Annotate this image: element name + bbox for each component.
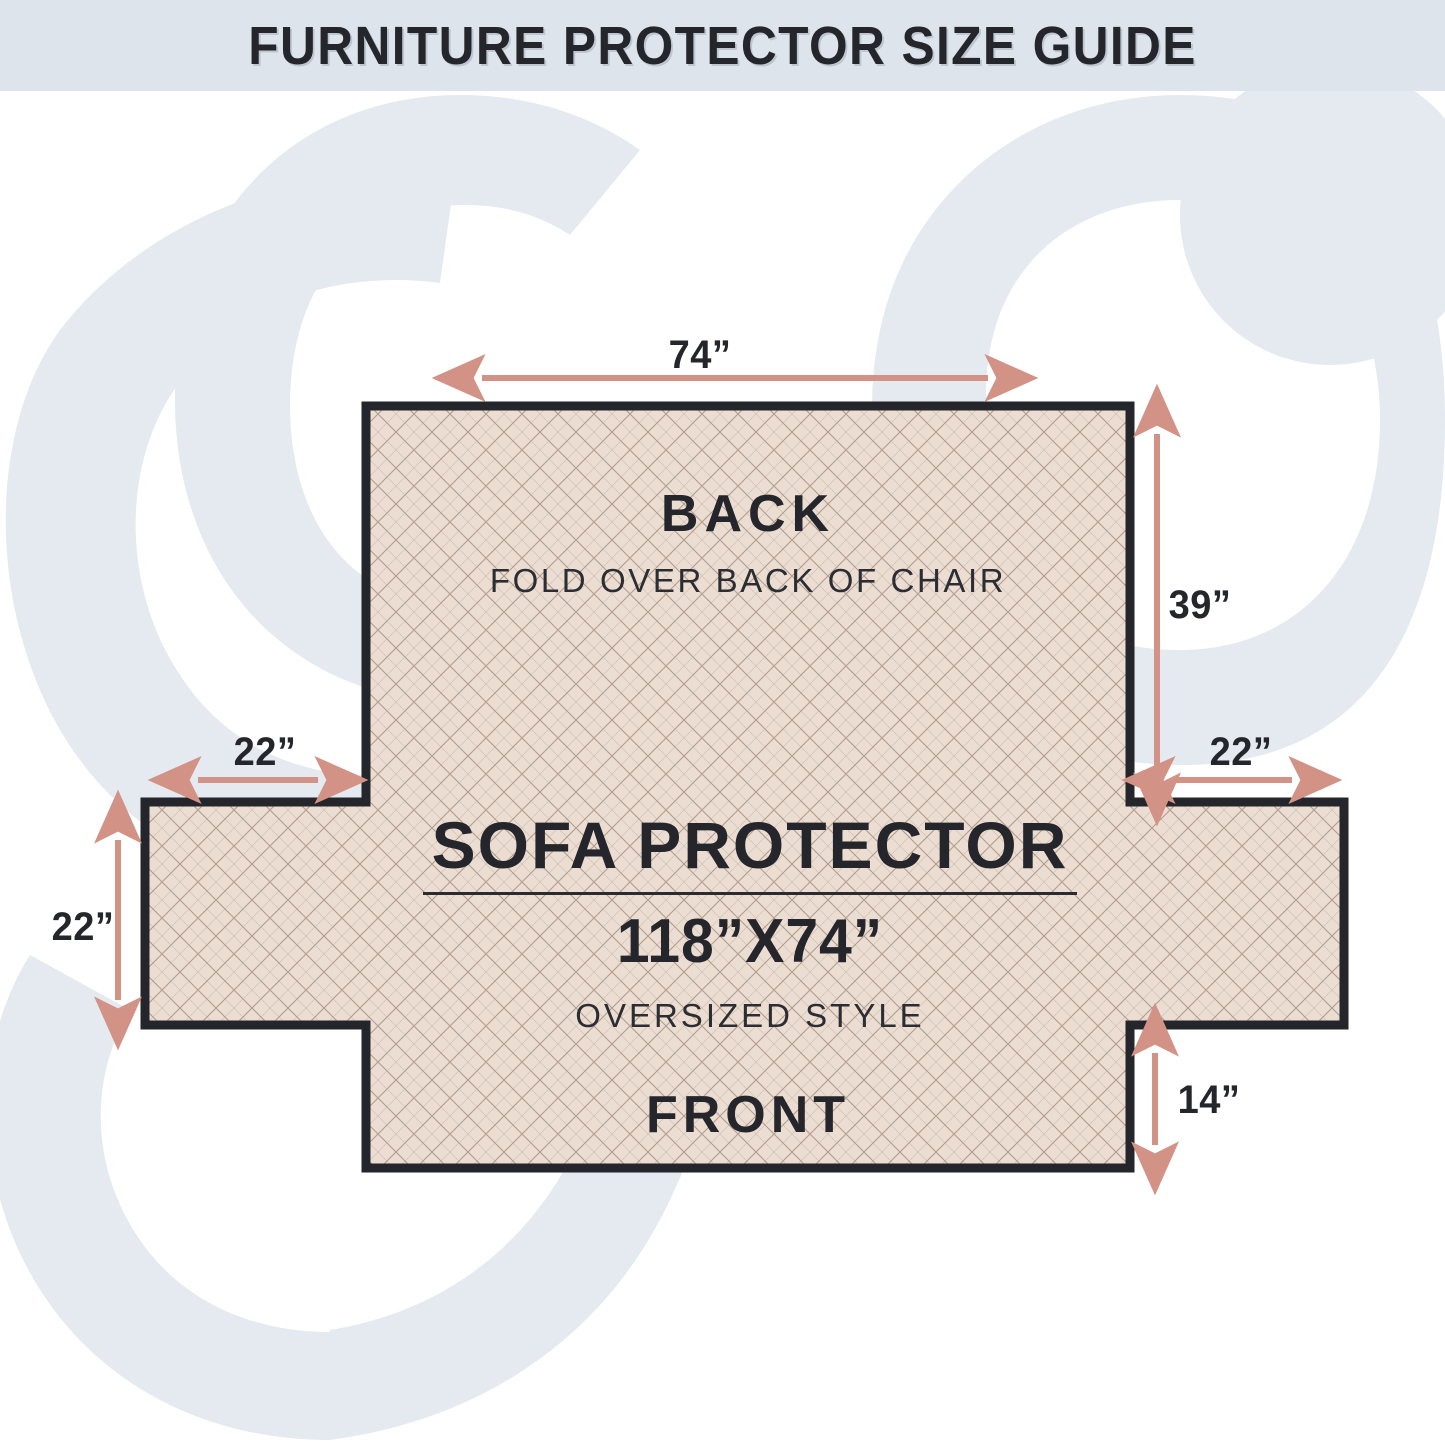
dimension-label-back-height: 39” [1169, 583, 1232, 628]
front-panel-label: FRONT [366, 1085, 1130, 1145]
product-label-block: SOFA PROTECTOR 118”X74” OVERSIZED STYLE [300, 812, 1200, 1035]
dimension-label-top-width: 74” [669, 333, 732, 378]
product-dimensions: 118”X74” [323, 911, 1178, 973]
title-divider [423, 892, 1077, 895]
dimension-label-left-arm-width: 22” [234, 730, 297, 775]
protector-diagram [0, 0, 1445, 1445]
back-panel-label: BACK [366, 484, 1130, 544]
size-guide-page: FURNITURE PROTECTOR SIZE GUIDE [0, 0, 1445, 1445]
product-style: OVERSIZED STYLE [300, 997, 1200, 1035]
product-title: SOFA PROTECTOR [300, 812, 1200, 878]
dimension-label-right-arm-width: 22” [1210, 730, 1273, 775]
back-panel-instruction: FOLD OVER BACK OF CHAIR [366, 562, 1130, 600]
dimension-label-front-flap-height: 14” [1178, 1078, 1241, 1123]
dimension-label-left-arm-height: 22” [52, 905, 115, 950]
